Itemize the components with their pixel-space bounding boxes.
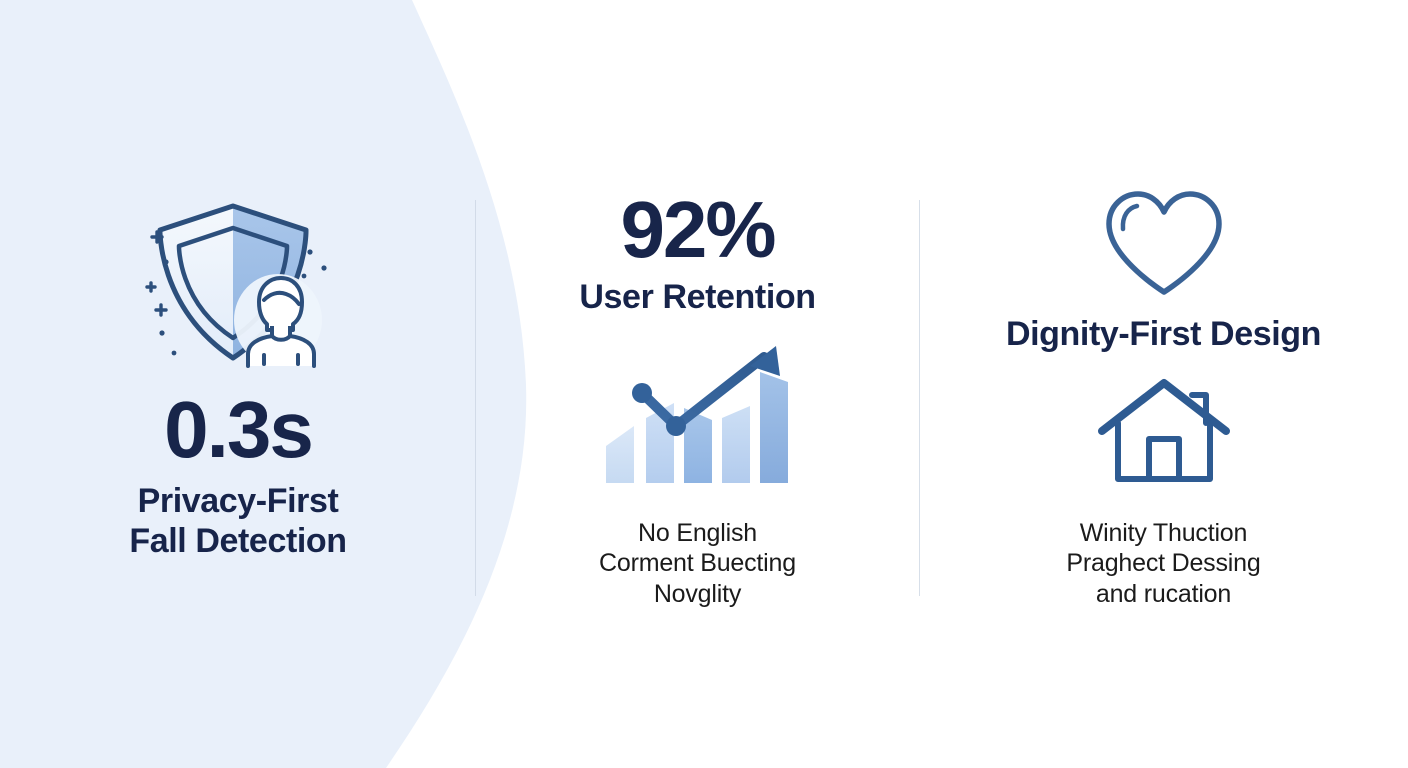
column-privacy: 0.3s Privacy-First Fall Detection (0, 0, 476, 768)
content-root: 0.3s Privacy-First Fall Detection 92% Us… (0, 0, 1408, 768)
trend-point-1 (632, 383, 652, 403)
stat-label-retention: User Retention (579, 278, 815, 318)
caption-dignity: Winity Thuction Praghect Dessing and ruc… (1066, 518, 1260, 610)
stat-label-privacy: Privacy-First Fall Detection (129, 482, 346, 562)
stat-label-line-2: Fall Detection (129, 522, 346, 562)
stat-label-dignity: Dignity-First Design (1006, 315, 1321, 355)
caption-line-3: and rucation (1066, 579, 1260, 610)
caption-line-1: No English (599, 518, 796, 549)
bar-4 (722, 406, 750, 483)
stat-number-privacy: 0.3s (164, 390, 312, 470)
caption-line-1: Winity Thuction (1066, 518, 1260, 549)
bar-5 (760, 372, 788, 483)
caption-line-3: Novglity (599, 579, 796, 610)
heart-icon (1099, 186, 1229, 301)
column-divider-right (919, 200, 920, 596)
stat-label-line-1: Privacy-First (129, 482, 346, 522)
stat-number-retention: 92% (620, 190, 774, 270)
stat-label-line-1: User Retention (579, 278, 815, 318)
stat-label-line-1: Dignity-First Design (1006, 315, 1321, 355)
heart-highlight-arc (1122, 206, 1136, 229)
home-icon (1094, 373, 1234, 488)
shield-person-icon (138, 190, 338, 370)
caption-line-2: Corment Buecting (599, 548, 796, 579)
column-dignity: Dignity-First Design Winity Thuction Pra… (919, 0, 1408, 768)
caption-line-2: Praghect Dessing (1066, 548, 1260, 579)
bar-1 (606, 426, 634, 483)
column-retention: 92% User Retention (476, 0, 919, 768)
caption-retention: No English Corment Buecting Novglity (599, 518, 796, 610)
column-divider-left (475, 200, 476, 596)
growth-chart-icon (598, 340, 798, 490)
trend-point-2 (666, 416, 686, 436)
